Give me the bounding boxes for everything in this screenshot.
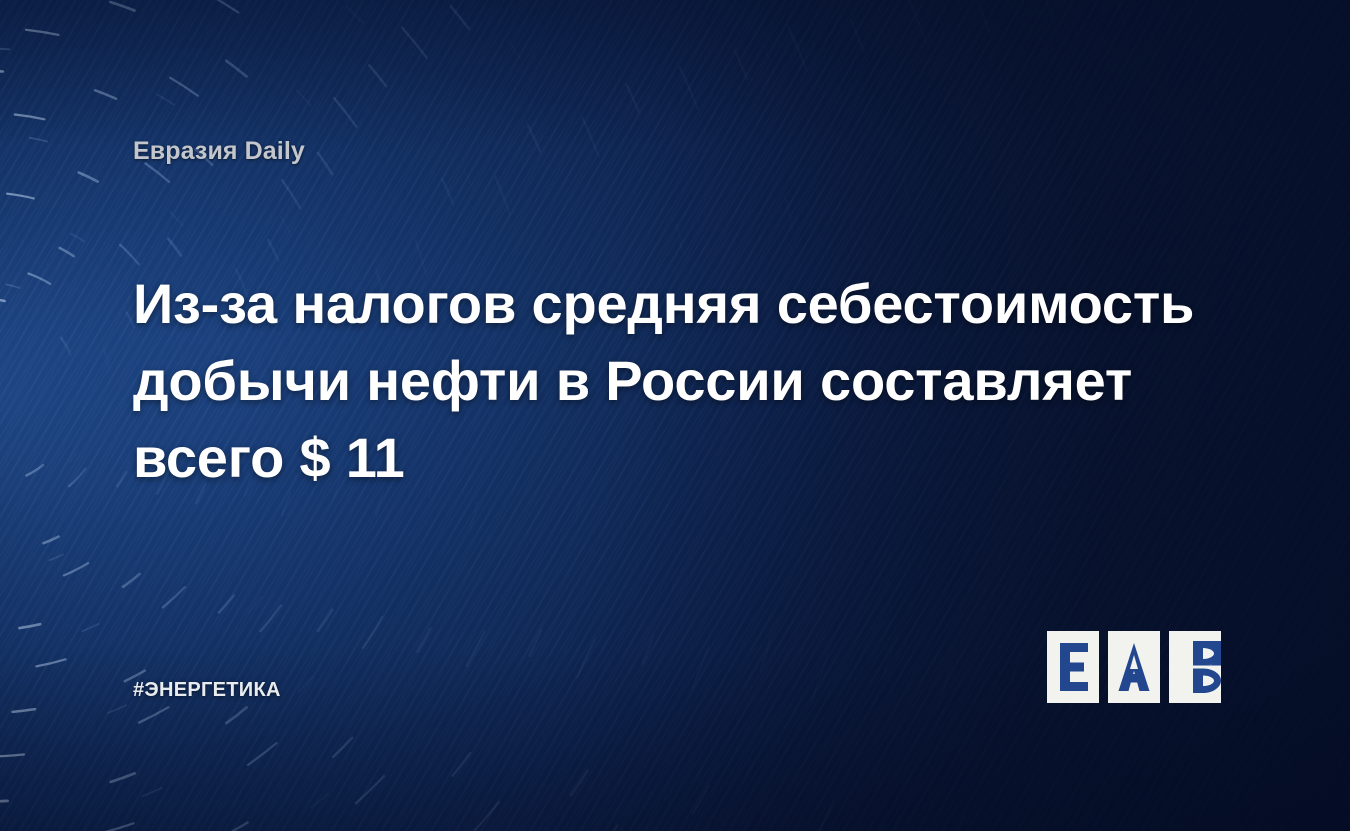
headline: Из-за налогов средняя себестоимость добы…	[133, 265, 1203, 496]
news-card: Евразия Daily Из-за налогов средняя себе…	[0, 0, 1350, 831]
card-content: Евразия Daily Из-за налогов средняя себе…	[0, 0, 1350, 831]
category-tag[interactable]: #ЭНЕРГЕТИКА	[133, 679, 281, 702]
logo-tile-d	[1169, 631, 1221, 703]
logo-tile-e	[1047, 631, 1099, 703]
brand-label: Евразия Daily	[133, 137, 305, 166]
logo-tile-a	[1108, 631, 1160, 703]
eadaily-logo[interactable]	[1047, 631, 1221, 703]
